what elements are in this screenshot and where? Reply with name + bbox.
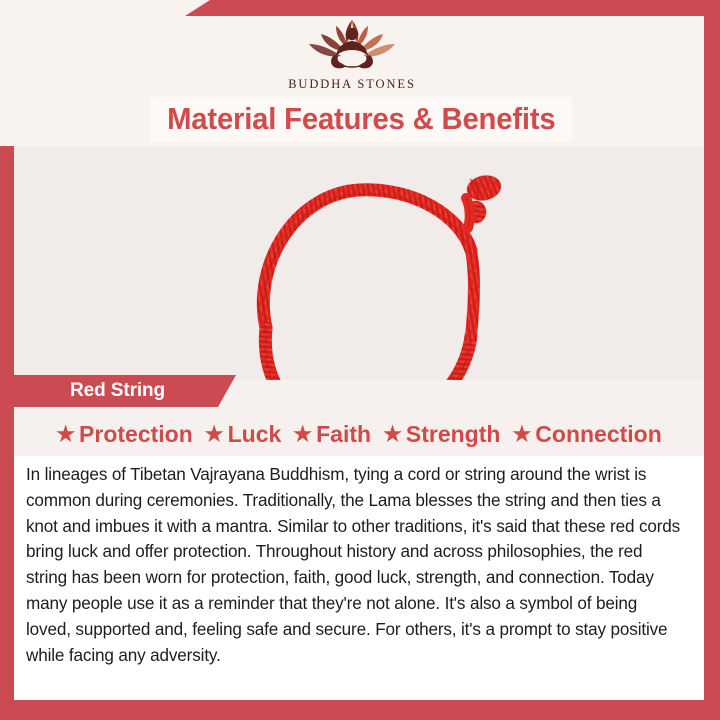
description-band: In lineages of Tibetan Vajrayana Buddhis… xyxy=(14,456,704,700)
infographic-page: BUDDHA STONES Material Features & Benefi… xyxy=(0,0,720,720)
star-icon: ★ xyxy=(512,424,531,445)
red-string-ribbon: Red String xyxy=(14,375,236,407)
lotus-meditation-icon xyxy=(296,14,408,76)
page-title: Material Features & Benefits xyxy=(167,102,555,137)
benefit-faith: ★ Faith xyxy=(288,421,376,448)
star-icon: ★ xyxy=(293,424,312,445)
red-string-bracelet-image xyxy=(14,146,704,380)
benefit-strength: ★ Strength xyxy=(378,421,505,448)
product-image-band xyxy=(14,146,704,380)
benefit-connection: ★ Connection xyxy=(507,421,666,448)
benefit-label: Connection xyxy=(535,421,662,448)
brand-wordmark: BUDDHA STONES xyxy=(288,77,416,92)
benefits-row: ★ Protection ★ Luck ★ Faith ★ Strength ★… xyxy=(14,412,704,456)
header: BUDDHA STONES Material Features & Benefi… xyxy=(0,0,704,146)
benefit-label: Faith xyxy=(316,421,371,448)
star-icon: ★ xyxy=(383,424,402,445)
benefit-label: Luck xyxy=(228,421,282,448)
benefit-luck: ★ Luck xyxy=(200,421,287,448)
benefit-protection: ★ Protection xyxy=(51,421,198,448)
description-text: In lineages of Tibetan Vajrayana Buddhis… xyxy=(26,462,682,668)
star-icon: ★ xyxy=(205,424,224,445)
page-title-box: Material Features & Benefits xyxy=(150,97,572,142)
benefit-label: Protection xyxy=(79,421,193,448)
top-red-tab xyxy=(185,0,720,16)
brand-logo: BUDDHA STONES xyxy=(0,14,704,92)
benefit-label: Strength xyxy=(406,421,501,448)
star-icon: ★ xyxy=(56,424,75,445)
ribbon-label: Red String xyxy=(70,380,165,402)
